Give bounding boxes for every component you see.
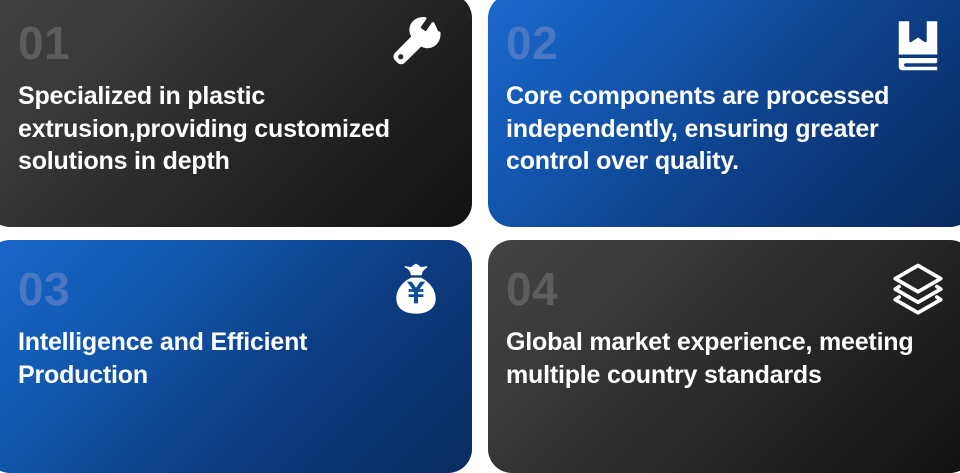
feature-card-01[interactable]: 01 Specialized in plastic extrusion,prov… (0, 0, 472, 227)
card-number-02: 02 (506, 20, 944, 66)
card-text-02: Core components are processed independen… (506, 80, 936, 178)
card-number-01: 01 (18, 20, 442, 66)
feature-card-grid: 01 Specialized in plastic extrusion,prov… (0, 0, 960, 459)
layers-stack-icon (890, 262, 946, 318)
card-text-04: Global market experience, meeting multip… (506, 326, 936, 391)
card-text-01: Specialized in plastic extrusion,providi… (18, 80, 442, 178)
feature-card-02[interactable]: 02 Core components are processed indepen… (488, 0, 960, 227)
feature-card-03[interactable]: 03 Intelligence and Efficient Production (0, 240, 472, 473)
wrench-icon (388, 16, 444, 72)
card-number-03: 03 (18, 266, 442, 312)
card-number-04: 04 (506, 266, 944, 312)
money-bag-yen-icon (388, 262, 444, 318)
feature-card-04[interactable]: 04 Global market experience, meeting mul… (488, 240, 960, 473)
card-text-03: Intelligence and Efficient Production (18, 326, 418, 391)
book-bookmark-icon (890, 16, 946, 72)
